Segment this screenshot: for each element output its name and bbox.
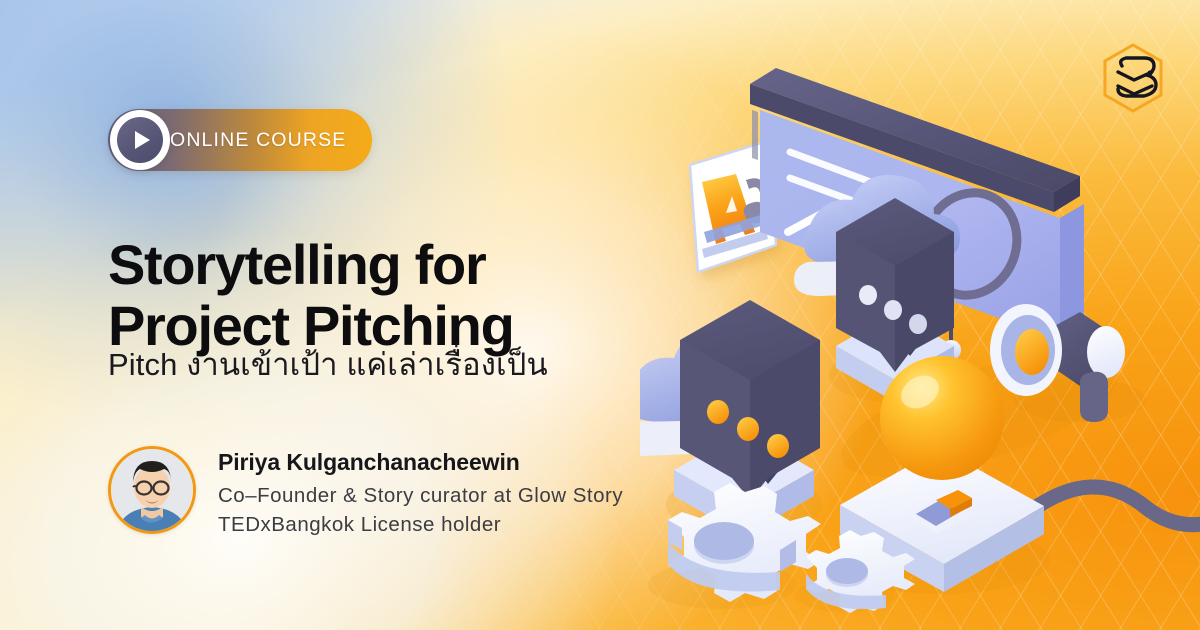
avatar (108, 446, 196, 534)
play-icon-triangle (135, 131, 150, 149)
play-icon[interactable] (110, 110, 170, 170)
presenter-text: Piriya Kulganchanacheewin Co–Founder & S… (218, 446, 623, 539)
presenter-role-line1: Co–Founder & Story curator at Glow Story (218, 481, 623, 510)
avatar-portrait (111, 449, 193, 531)
course-subtitle: Pitch งานเข้าเป้า แค่เล่าเรื่องเป็น (108, 346, 748, 383)
play-icon-circle (117, 117, 163, 163)
presenter-block: Piriya Kulganchanacheewin Co–Founder & S… (108, 446, 623, 539)
course-title-line1: Storytelling for (108, 233, 485, 296)
course-title: Storytelling for Project Pitching (108, 234, 728, 356)
hexagon-stacked-logo (1100, 42, 1166, 114)
badge-label: ONLINE COURSE (170, 129, 346, 152)
course-promo-banner: ONLINE COURSE Storytelling for Project P… (0, 0, 1200, 630)
presenter-name: Piriya Kulganchanacheewin (218, 448, 623, 477)
presenter-role-line2: TEDxBangkok License holder (218, 510, 623, 539)
